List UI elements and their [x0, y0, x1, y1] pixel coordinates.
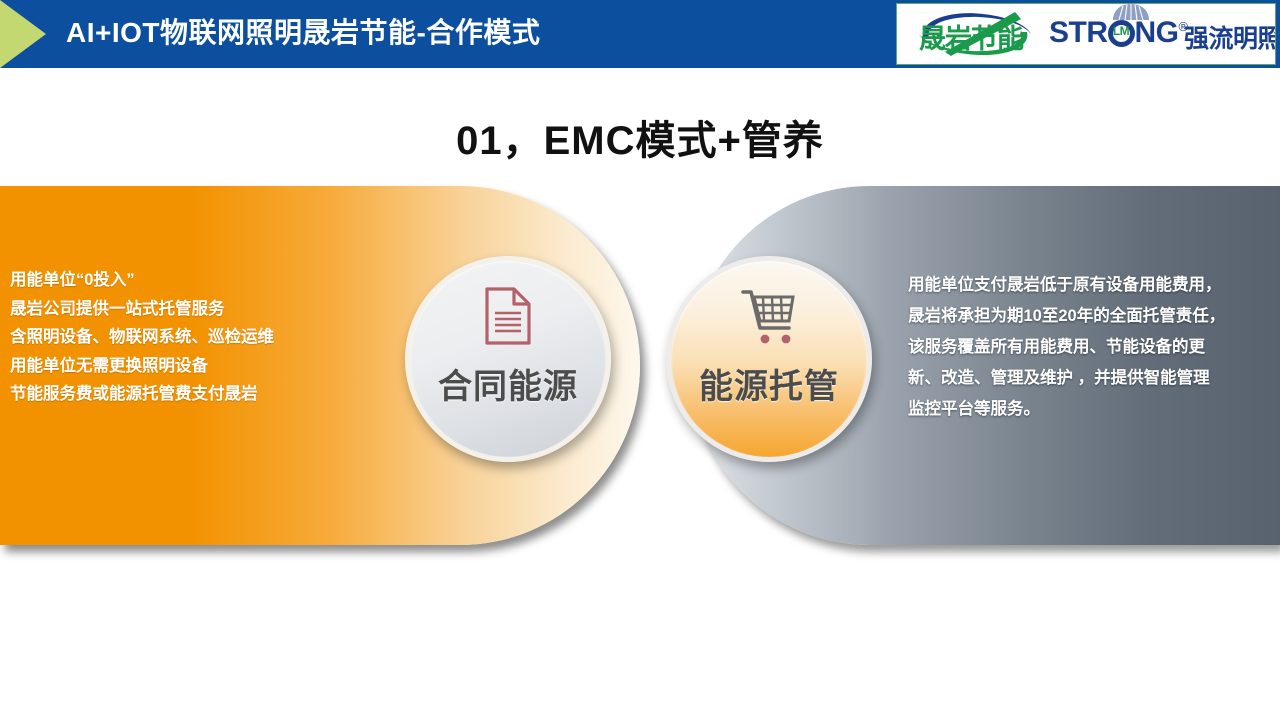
brand-logo: 晟岩节能 STRLMNG® 强流明照明	[896, 3, 1276, 65]
circle-label-energy-hosting: 能源托管	[671, 359, 867, 408]
logo-lm-mark-icon: LM	[1108, 20, 1135, 47]
logo-strong-post: NG	[1135, 16, 1179, 49]
panel-left-text: 用能单位“0投入” 晟岩公司提供一站式托管服务 含照明设备、物联网系统、巡检运维…	[10, 266, 360, 409]
logo-tagline: 强流明照明	[1184, 19, 1276, 55]
left-line-5: 节能服务费或能源托管费支付晟岩	[10, 380, 360, 409]
right-line-2: 晟岩将承担为期10至20年的全面托管责任，	[908, 301, 1273, 332]
left-line-3: 含照明设备、物联网系统、巡检运维	[10, 323, 360, 352]
page-title: 01，EMC模式+管养	[0, 108, 1280, 166]
logo-brand-cn: 晟岩节能	[919, 17, 1023, 56]
right-line-5: 监控平台等服务。	[908, 394, 1273, 425]
right-line-4: 新、改造、管理及维护 ，并提供智能管理	[908, 363, 1273, 394]
chevron-right-icon	[0, 0, 46, 68]
circle-label-contract-energy: 合同能源	[410, 359, 606, 408]
header-bar: AI+IOT物联网照明晟岩节能-合作模式 晟岩节能 STRLMNG® 强流明照明	[0, 0, 1280, 68]
header-title: AI+IOT物联网照明晟岩节能-合作模式	[66, 13, 540, 53]
circle-contract-energy[interactable]: 合同能源	[405, 256, 611, 462]
left-line-1: 用能单位“0投入”	[10, 266, 360, 295]
right-line-3: 该服务覆盖所有用能费用、节能设备的更	[908, 332, 1273, 363]
left-line-4: 用能单位无需更换照明设备	[10, 352, 360, 381]
shopping-cart-icon	[671, 283, 867, 349]
logo-lm-text: LM	[1108, 24, 1135, 38]
panel-right-text: 用能单位支付晟岩低于原有设备用能费用， 晟岩将承担为期10至20年的全面托管责任…	[908, 270, 1273, 425]
logo-brand-en: STRLMNG®	[1049, 16, 1188, 50]
left-line-2: 晟岩公司提供一站式托管服务	[10, 295, 360, 324]
logo-strong-pre: STR	[1049, 16, 1108, 49]
right-line-1: 用能单位支付晟岩低于原有设备用能费用，	[908, 270, 1273, 301]
circle-energy-hosting[interactable]: 能源托管	[666, 256, 872, 462]
document-icon	[410, 283, 606, 349]
